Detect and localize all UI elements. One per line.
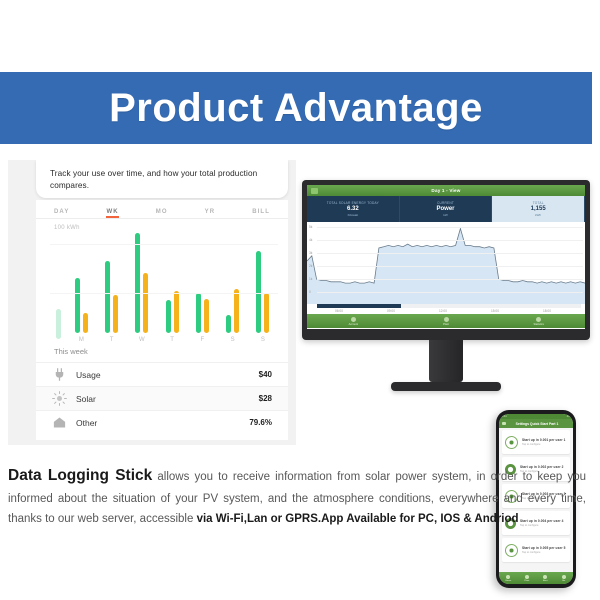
stat-card-2[interactable]: CURRENT Power kW: [400, 196, 493, 222]
monitor-nav-statistics-label: Statistics: [533, 323, 543, 326]
hero-imagery: Track your use over time, and how your t…: [0, 152, 600, 452]
banner: Product Advantage: [0, 72, 592, 144]
monitor-base: [391, 382, 501, 391]
person-icon: [351, 317, 356, 322]
bar-group: S: [220, 233, 246, 343]
phone-nav-me[interactable]: Me: [555, 572, 574, 584]
gridline: [317, 240, 583, 241]
bar-group: W: [129, 233, 155, 343]
monitor-nav-plant-label: Plant: [443, 323, 449, 326]
bar-group: M: [68, 233, 94, 343]
stat-card-3-caption: TOTAL: [533, 201, 544, 205]
cloud-icon: [444, 317, 449, 322]
plug-icon: [50, 366, 68, 384]
bar-usage: [83, 313, 88, 333]
monitor-screen: Day 1 - View TOTAL SOLAR ENERGY TODAY 6.…: [307, 185, 585, 329]
y-tick: 0: [309, 290, 311, 294]
tab-bill[interactable]: BILL: [252, 209, 270, 218]
phone-app-title: Settings Quick Start Part 1: [506, 422, 573, 426]
monitor-nav-statistics[interactable]: Statistics: [492, 314, 585, 328]
list-item-text: Start up in 0.005 per user 5Tap to confi…: [522, 546, 567, 555]
row-solar-label: Solar: [76, 394, 259, 404]
chart-footer-label: This week: [54, 347, 288, 356]
gridline: [317, 292, 583, 293]
house-icon: [50, 414, 68, 432]
bar-label: S: [231, 337, 235, 343]
plant-icon: [525, 575, 529, 579]
monitor-nav-plant[interactable]: Plant: [400, 314, 493, 328]
row-solar[interactable]: Solar $28: [36, 386, 288, 410]
bar-group: T: [99, 233, 125, 343]
weekly-bar-chart: MTWTFSS: [50, 235, 278, 343]
tab-wk[interactable]: WK: [106, 209, 118, 218]
x-tick: 09:00: [387, 309, 395, 313]
bar-label: F: [201, 337, 205, 343]
tab-day[interactable]: DAY: [54, 209, 69, 218]
tab-yr[interactable]: YR: [205, 209, 216, 218]
y-tick: 1k: [309, 277, 312, 281]
stat-card-3[interactable]: TOTAL 1,155 kWh: [492, 196, 585, 222]
chart-scrollbar[interactable]: [317, 304, 581, 308]
bar-usage: [174, 291, 179, 333]
y-tick: 2k: [309, 264, 312, 268]
bar-usage: [113, 295, 118, 333]
product-advantage-page: Product Advantage Track your use over ti…: [0, 0, 600, 600]
stat-card-2-unit: kW: [443, 213, 447, 217]
bar-group: F: [189, 233, 215, 343]
list-item-title: Start up in 0.005 per user 5: [522, 546, 567, 550]
row-usage[interactable]: Usage $40: [36, 362, 288, 386]
monitor-title: Day 1 - View: [307, 188, 585, 193]
y-tick: 3k: [309, 251, 312, 255]
monitor-area-chart: 5k4k3k2k1k006:0009:0012:0015:0018:00: [307, 222, 585, 314]
bar-usage: [234, 289, 239, 333]
row-usage-value: $40: [259, 370, 272, 379]
gridline: [317, 266, 583, 267]
desktop-monitor: Day 1 - View TOTAL SOLAR ENERGY TODAY 6.…: [302, 180, 590, 391]
monitor-nav-account[interactable]: Account: [307, 314, 400, 328]
gridline: [317, 253, 583, 254]
description-highlight: via Wi-Fi,Lan or GPRS.App Available for …: [197, 513, 519, 525]
stat-card-3-unit: kWh: [535, 213, 541, 217]
bar-usage: [143, 273, 148, 333]
bar-production: [75, 278, 80, 333]
bar-label: M: [79, 337, 84, 343]
phone-nav-home[interactable]: Home: [499, 572, 518, 584]
stat-card-1[interactable]: TOTAL SOLAR ENERGY TODAY 6.32 Kilowatt: [307, 196, 400, 222]
phone-nav-home-label: Home: [505, 580, 511, 582]
list-item[interactable]: Start up in 0.001 per user 1Tap to confi…: [502, 430, 570, 454]
phone-app-header: Settings Quick Start Part 1: [499, 419, 573, 428]
bar-label: T: [110, 337, 114, 343]
y-tick: 5k: [309, 225, 312, 229]
bar-usage: [204, 299, 209, 333]
row-other-value: 79.6%: [249, 418, 272, 427]
phone-clock: 9:41: [502, 415, 507, 418]
bar-label: S: [261, 337, 265, 343]
box-icon: [505, 544, 518, 557]
stat-card-2-caption: CURRENT: [437, 201, 454, 205]
list-item-text: Start up in 0.001 per user 1Tap to confi…: [522, 438, 567, 447]
product-name: Data Logging Stick: [8, 467, 152, 484]
chart-y-axis-label: 100 kWh: [54, 225, 288, 231]
bar-production: [105, 261, 110, 333]
stat-card-3-value: 1,155: [531, 206, 546, 212]
row-usage-label: Usage: [76, 370, 259, 380]
list-item-subtitle: Tap to configure: [522, 551, 567, 554]
row-solar-value: $28: [259, 394, 272, 403]
bar-label: T: [170, 337, 174, 343]
tabs-divider: [36, 218, 288, 219]
stat-card-1-value: 6.32: [347, 206, 359, 212]
product-description: Data Logging Stick allows you to receive…: [8, 462, 586, 529]
period-tabs: DAY WK MO YR BILL: [36, 200, 288, 218]
usage-card: DAY WK MO YR BILL 100 kWh MTWTFSS This w…: [36, 200, 288, 440]
gridline: [317, 279, 583, 280]
phone-bottom-nav: Home Plant Alert Me: [499, 572, 573, 584]
stat-card-2-value: Power: [437, 206, 455, 212]
monitor-topbar: Day 1 - View: [307, 185, 585, 196]
tip-text: Track your use over time, and how your t…: [50, 168, 274, 192]
row-other-label: Other: [76, 418, 249, 428]
stat-card-1-unit: Kilowatt: [348, 213, 359, 217]
row-other[interactable]: Other 79.6%: [36, 410, 288, 434]
bar-label: W: [139, 337, 145, 343]
y-tick: 4k: [309, 238, 312, 242]
bar-production: [226, 315, 231, 333]
x-tick: 12:00: [439, 309, 447, 313]
solar-app-panel: Track your use over time, and how your t…: [8, 160, 296, 445]
chart-icon: [536, 317, 541, 322]
monitor-neck: [429, 340, 463, 382]
sun-icon: [50, 390, 68, 408]
monitor-stat-cards: TOTAL SOLAR ENERGY TODAY 6.32 Kilowatt C…: [307, 196, 585, 222]
x-tick: 18:00: [543, 309, 551, 313]
gridline: [317, 227, 583, 228]
stat-card-1-caption: TOTAL SOLAR ENERGY TODAY: [327, 201, 379, 205]
page-title: Product Advantage: [109, 88, 483, 128]
bar-group: T: [159, 233, 185, 343]
x-tick: 06:00: [335, 309, 343, 313]
bar-ghost: [56, 309, 61, 339]
x-tick: 15:00: [491, 309, 499, 313]
bar-production: [166, 300, 171, 333]
bar-production: [135, 233, 140, 333]
leaf-icon: [505, 436, 518, 449]
phone-nav-alert-label: Alert: [543, 580, 548, 582]
bar-production: [256, 251, 261, 333]
list-item-title: Start up in 0.001 per user 1: [522, 438, 567, 442]
list-item-subtitle: Tap to configure: [522, 443, 567, 446]
home-icon: [506, 575, 510, 579]
tab-mo[interactable]: MO: [156, 209, 168, 218]
phone-nav-plant[interactable]: Plant: [518, 572, 537, 584]
area-chart-svg: [307, 222, 585, 314]
monitor-bezel: Day 1 - View TOTAL SOLAR ENERGY TODAY 6.…: [302, 180, 590, 340]
monitor-nav-account-label: Account: [349, 323, 358, 326]
bar-usage: [264, 293, 269, 333]
list-item[interactable]: Start up in 0.005 per user 5Tap to confi…: [502, 538, 570, 562]
phone-signal: 4G: [567, 415, 570, 418]
bar-group: S: [250, 233, 276, 343]
chart-scrollbar-thumb[interactable]: [317, 304, 401, 308]
phone-nav-me-label: Me: [562, 580, 565, 582]
phone-nav-plant-label: Plant: [524, 580, 529, 582]
me-icon: [562, 575, 566, 579]
bar-group-prev: [52, 239, 64, 343]
tip-card: Track your use over time, and how your t…: [36, 160, 288, 198]
phone-nav-alert[interactable]: Alert: [536, 572, 555, 584]
alert-icon: [543, 575, 547, 579]
bar-production: [196, 293, 201, 333]
monitor-bottom-nav: Account Plant Statistics: [307, 314, 585, 328]
summary-rows: Usage $40 Solar $28: [36, 362, 288, 434]
